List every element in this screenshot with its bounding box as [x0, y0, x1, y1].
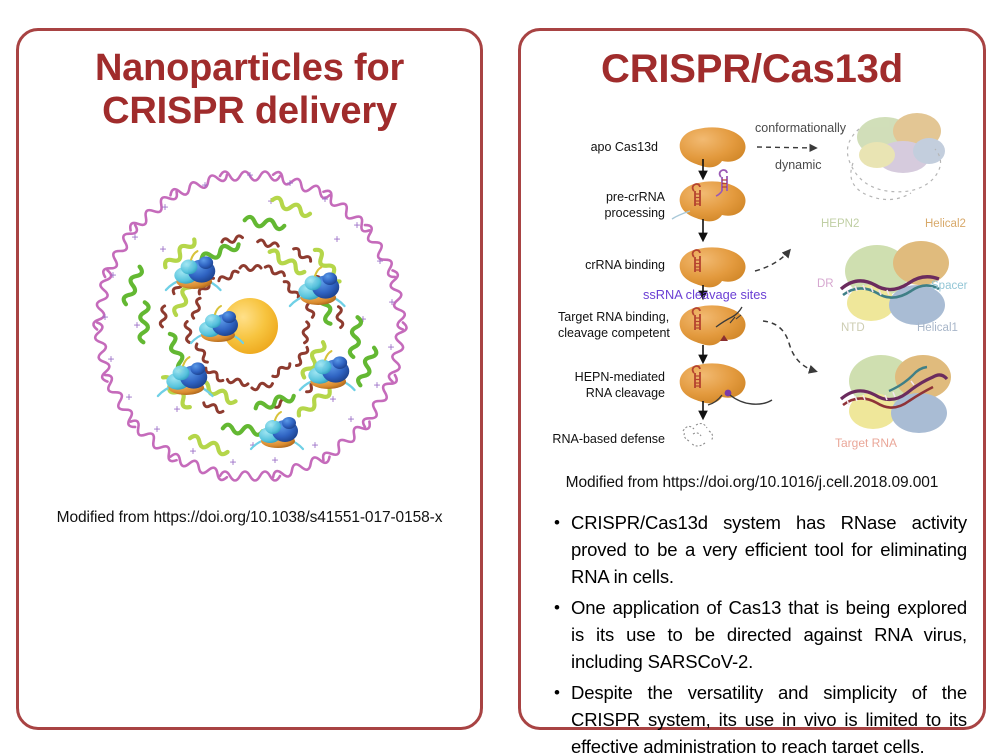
conformationally-dynamic-annotation: conformationally dynamic	[755, 121, 847, 172]
right-panel-card: CRISPR/Cas13d	[518, 28, 986, 730]
step-label-hepn-1: HEPN-mediated	[575, 370, 665, 384]
bullet-marker-3: •	[543, 679, 571, 706]
bullet-marker-2: •	[543, 594, 571, 621]
left-citation: Modified from https://doi.org/10.1038/s4…	[19, 509, 480, 527]
structure-label-helical2: Helical2	[925, 218, 966, 230]
bullet-item-3: • Despite the versatility and simplicity…	[543, 679, 967, 753]
bullet-list: • CRISPR/Cas13d system has RNase activit…	[543, 509, 967, 753]
crrna-bound-structure: HEPN2 Helical2 Spacer DR NTD Helical1	[817, 218, 968, 334]
step-label-rna-defense: RNA-based defense	[552, 432, 665, 446]
ssrna-cleavage-sites-label: ssRNA cleavage sites	[643, 287, 767, 302]
svg-text:conformationally: conformationally	[755, 121, 847, 135]
svg-text:+: +	[246, 168, 253, 182]
target-rna-structure: Target RNA	[835, 355, 951, 450]
left-title-line-2: CRISPR delivery	[45, 90, 454, 133]
svg-text:+: +	[107, 352, 114, 366]
svg-text:+: +	[388, 295, 395, 309]
svg-text:+: +	[376, 254, 383, 268]
structure-label-dr: DR	[817, 278, 834, 290]
degraded-rna-fragments	[683, 424, 713, 446]
apo-cas13d-structure	[847, 113, 945, 200]
bullet-text-1: CRISPR/Cas13d system has RNase activity …	[571, 509, 967, 590]
slide-canvas: Nanoparticles for CRISPR delivery	[0, 0, 1002, 753]
structure-connectors	[755, 251, 815, 371]
cas13d-mechanism-figure: apo Cas13d pre-crRNA processing crRNA bi…	[533, 109, 977, 471]
svg-text:+: +	[347, 412, 354, 426]
step-label-hepn-2: RNA cleavage	[586, 386, 665, 400]
nanoparticle-figure: + + + + + + + + + + + + + + + + +	[85, 161, 415, 491]
svg-text:+: +	[101, 310, 108, 324]
right-panel-title: CRISPR/Cas13d	[521, 47, 983, 93]
svg-text:+: +	[373, 378, 380, 392]
svg-text:+: +	[125, 390, 132, 404]
right-citation: Modified from https://doi.org/10.1016/j.…	[521, 474, 983, 492]
svg-text:+: +	[109, 268, 116, 282]
step-label-pre-crrna-2: processing	[605, 206, 665, 220]
svg-text:+: +	[311, 438, 318, 452]
bullet-marker-1: •	[543, 509, 571, 536]
structure-label-target-rna: Target RNA	[835, 436, 897, 450]
step-label-target-2: cleavage competent	[558, 326, 670, 340]
structure-label-hepn2: HEPN2	[821, 218, 859, 230]
svg-text:+: +	[321, 192, 328, 206]
left-title-line-1: Nanoparticles for	[45, 47, 454, 90]
left-panel-title: Nanoparticles for CRISPR delivery	[19, 47, 480, 134]
step-label-apo-cas13d: apo Cas13d	[591, 140, 658, 154]
bullet-text-3: Despite the versatility and simplicity o…	[571, 679, 967, 753]
bullet-item-2: • One application of Cas13 that is being…	[543, 594, 967, 675]
svg-text:+: +	[201, 178, 208, 192]
svg-text:dynamic: dynamic	[775, 158, 822, 172]
structure-label-helical1: Helical1	[917, 322, 958, 334]
svg-text:+: +	[333, 232, 340, 246]
bullet-text-2: One application of Cas13 that is being e…	[571, 594, 967, 675]
svg-text:+: +	[271, 453, 278, 467]
svg-text:+: +	[161, 200, 168, 214]
left-panel-card: Nanoparticles for CRISPR delivery	[16, 28, 483, 730]
svg-text:+: +	[387, 340, 394, 354]
svg-text:+: +	[153, 422, 160, 436]
step-label-target-1: Target RNA binding,	[558, 310, 669, 324]
step-label-crrna-binding: crRNA binding	[585, 258, 665, 272]
svg-text:+: +	[159, 242, 166, 256]
svg-text:+: +	[131, 230, 138, 244]
svg-text:+: +	[286, 176, 293, 190]
structure-label-ntd: NTD	[841, 322, 865, 334]
step-label-pre-crrna-1: pre-crRNA	[606, 190, 666, 204]
structure-label-spacer: Spacer	[931, 280, 968, 292]
svg-text:+: +	[189, 444, 196, 458]
svg-text:+: +	[353, 218, 360, 232]
svg-text:+: +	[229, 455, 236, 469]
bullet-item-1: • CRISPR/Cas13d system has RNase activit…	[543, 509, 967, 590]
svg-text:+: +	[173, 402, 180, 416]
